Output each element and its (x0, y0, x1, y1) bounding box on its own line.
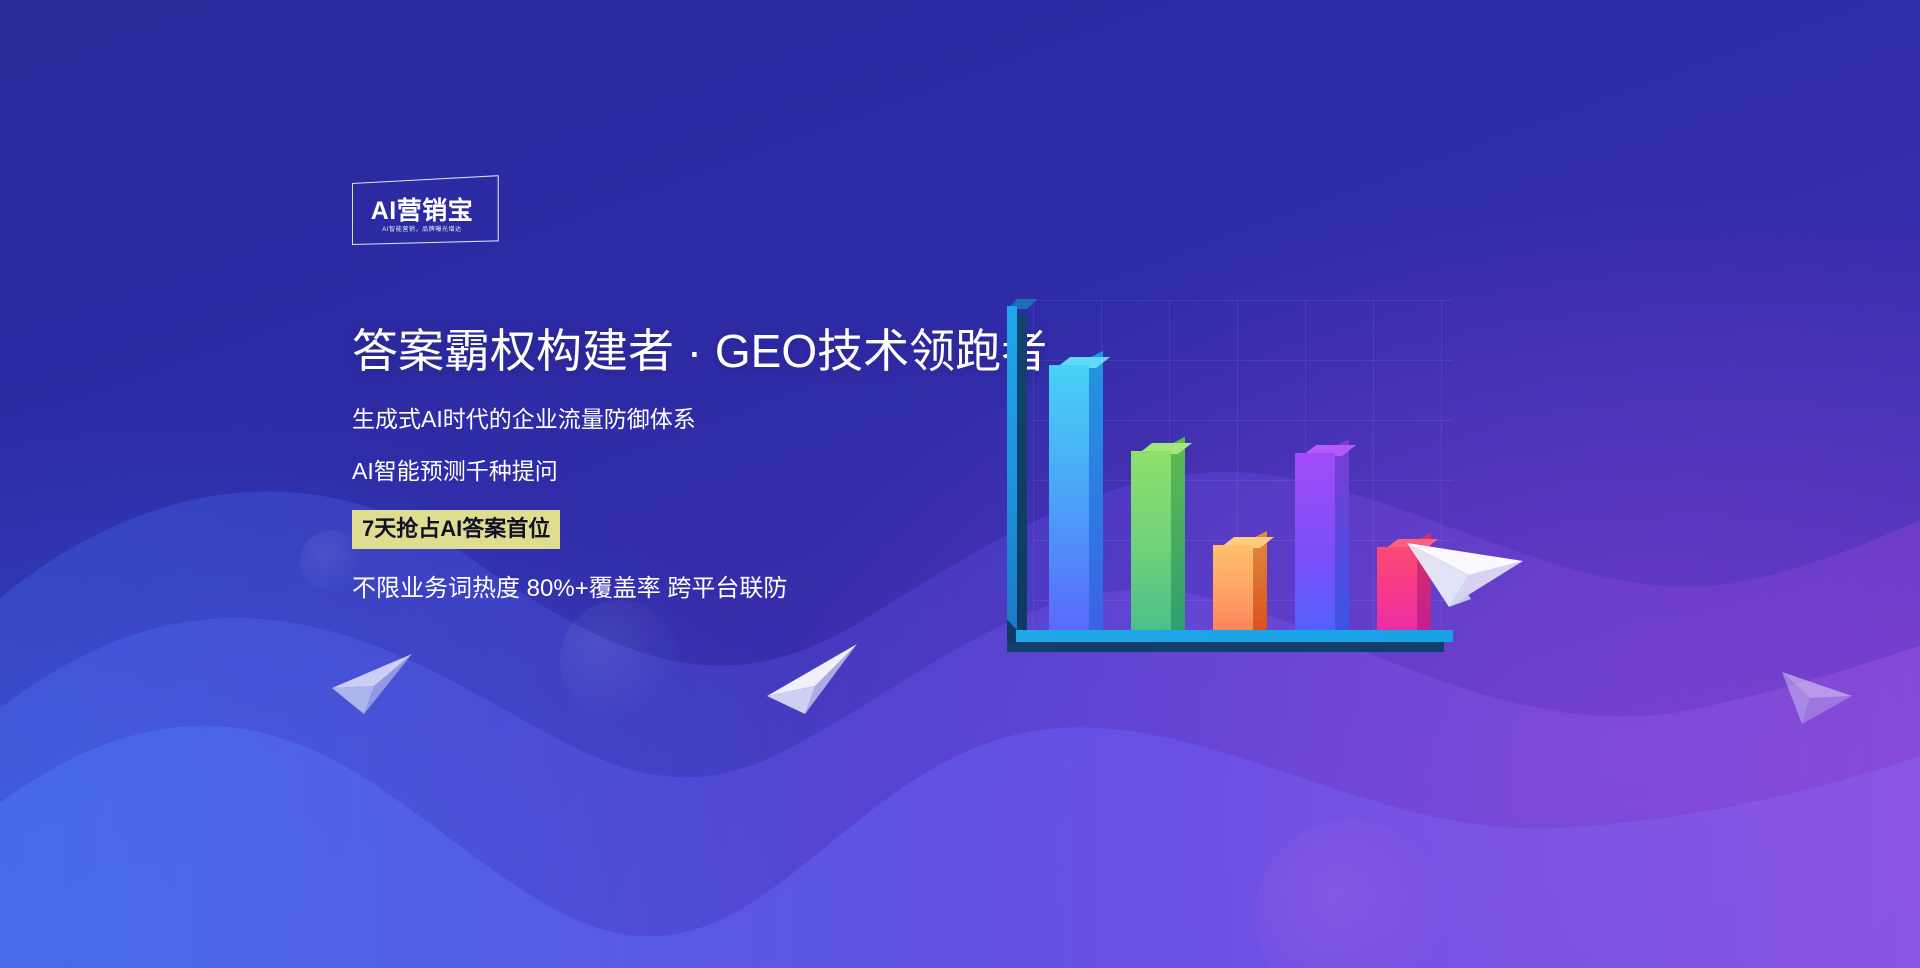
chart-bar-3 (1213, 545, 1253, 643)
paper-plane-icon (1405, 515, 1525, 610)
chart-bar-2 (1131, 451, 1171, 643)
logo-tagline: AI智能营销，品牌曝光增达 (382, 227, 461, 233)
chart-bar-1 (1049, 365, 1089, 643)
chart-y-axis (1007, 306, 1027, 638)
brand-logo[interactable]: AI营销宝 AI智能营销，品牌曝光增达 (352, 183, 492, 245)
chart-bar-4 (1295, 453, 1335, 643)
hero-banner: AI营销宝 AI智能营销，品牌曝光增达 答案霸权构建者 · GEO技术领跑者 生… (0, 0, 1920, 968)
chart-x-axis-floor (1007, 630, 1453, 652)
paper-plane-icon (1780, 662, 1862, 726)
logo-wordmark: AI营销宝 (371, 199, 474, 224)
bar-chart-illustration (985, 300, 1455, 665)
paper-plane-icon (765, 640, 861, 716)
hero-highlight-badge: 7天抢占AI答案首位 (352, 510, 560, 549)
paper-plane-icon (330, 648, 416, 716)
